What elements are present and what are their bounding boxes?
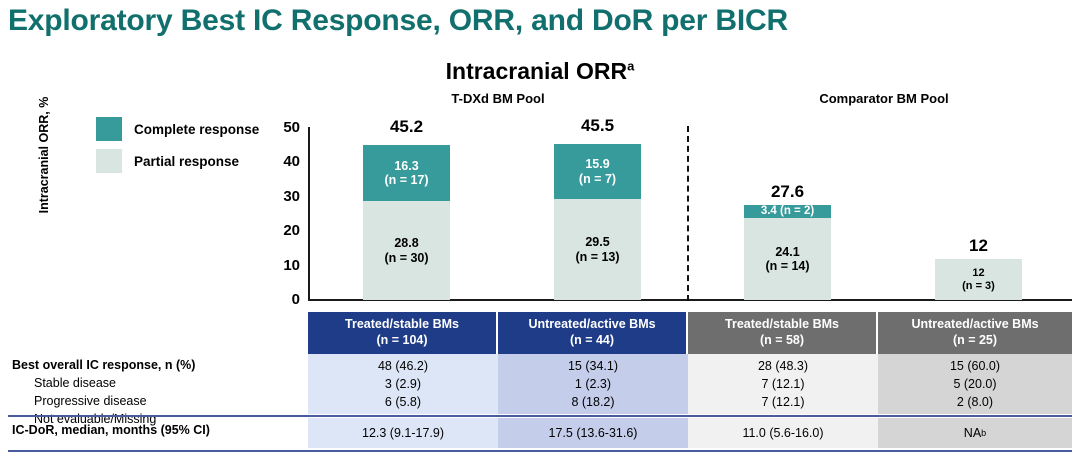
cell-stable-disease: 48 (46.2) bbox=[378, 357, 428, 375]
table-row-label-ic-dor: IC-DoR, median, months (95% CI) bbox=[12, 423, 210, 437]
bar-group-comparator-treated-stable: 27.6 3.4 (n = 2) 24.1 (n = 14) bbox=[744, 0, 831, 310]
bar-segment-partial-response: 24.1 (n = 14) bbox=[744, 218, 831, 300]
table-dor-col-3: 11.0 (5.6-16.0) bbox=[688, 418, 878, 448]
bar-total-label: 12 bbox=[935, 236, 1022, 256]
bar-group-comparator-untreated-active: 12 12 (n = 3) bbox=[935, 0, 1022, 310]
table-body-col-4: 15 (60.0) 5 (20.0) 2 (8.0) bbox=[878, 354, 1072, 414]
table-header-count: (n = 104) bbox=[376, 333, 427, 349]
segment-value-label: 28.8 bbox=[394, 236, 418, 250]
bar-total-label: 45.2 bbox=[363, 117, 450, 137]
table-header-count: (n = 25) bbox=[953, 333, 997, 349]
cell-dor-value: 17.5 (13.6-31.6) bbox=[549, 426, 638, 440]
cell-not-evaluable: 6 (5.8) bbox=[385, 393, 421, 411]
table-header-col-3: Treated/stable BMs (n = 58) bbox=[688, 312, 878, 354]
chart-plot-area: Intracranial ORR, % 50 40 30 20 10 0 45.… bbox=[0, 0, 1080, 310]
data-table: Treated/stable BMs (n = 104) Untreated/a… bbox=[0, 310, 1080, 460]
table-divider-rule-top bbox=[8, 415, 1072, 417]
cell-progressive-disease: 5 (20.0) bbox=[953, 375, 996, 393]
table-row-label-progressive-disease: Progressive disease bbox=[12, 392, 195, 410]
bar-segment-partial-response: 29.5 (n = 13) bbox=[554, 199, 641, 300]
bar-segment-complete-response: 15.9 (n = 7) bbox=[554, 144, 641, 199]
bar-total-label: 45.5 bbox=[554, 116, 641, 136]
y-tick-0: 0 bbox=[266, 291, 300, 308]
cell-dor-value: NA bbox=[964, 426, 981, 440]
table-header-count: (n = 58) bbox=[760, 333, 804, 349]
cell-stable-disease: 15 (60.0) bbox=[950, 357, 1000, 375]
table-header-title: Untreated/active BMs bbox=[911, 317, 1038, 333]
cell-not-evaluable: 8 (18.2) bbox=[571, 393, 614, 411]
segment-value-label: 24.1 bbox=[775, 245, 799, 259]
cell-dor-footnote-marker: b bbox=[981, 428, 986, 438]
table-divider-rule-bottom bbox=[8, 450, 1072, 452]
cell-progressive-disease: 7 (12.1) bbox=[761, 375, 804, 393]
bar-stack: 16.3 (n = 17) 28.8 (n = 30) bbox=[363, 145, 450, 300]
bar-stack: 3.4 (n = 2) 24.1 (n = 14) bbox=[744, 205, 831, 300]
bar-segment-complete-response: 3.4 (n = 2) bbox=[744, 205, 831, 218]
bar-group-tdxd-treated-stable: 45.2 16.3 (n = 17) 28.8 (n = 30) bbox=[363, 0, 450, 310]
table-header-title: Untreated/active BMs bbox=[528, 317, 655, 333]
bar-stack: 12 (n = 3) bbox=[935, 259, 1022, 300]
segment-count-label: (n = 3) bbox=[962, 280, 995, 293]
table-row-group-label: Best overall IC response, n (%) bbox=[12, 356, 195, 374]
panel-divider-dashed-line bbox=[687, 126, 689, 301]
segment-value-label: 12 bbox=[972, 267, 984, 280]
bar-group-tdxd-untreated-active: 45.5 15.9 (n = 7) 29.5 (n = 13) bbox=[554, 0, 641, 310]
cell-stable-disease: 15 (34.1) bbox=[568, 357, 618, 375]
bar-stack: 15.9 (n = 7) 29.5 (n = 13) bbox=[554, 144, 641, 300]
cell-progressive-disease: 3 (2.9) bbox=[385, 375, 421, 393]
y-tick-10: 10 bbox=[266, 257, 300, 274]
y-tick-30: 30 bbox=[266, 188, 300, 205]
table-header-count: (n = 44) bbox=[570, 333, 614, 349]
table-header-col-1: Treated/stable BMs (n = 104) bbox=[308, 312, 498, 354]
cell-dor-value: 12.3 (9.1-17.9) bbox=[362, 426, 444, 440]
segment-count-label: (n = 14) bbox=[765, 259, 809, 273]
cell-progressive-disease: 1 (2.3) bbox=[575, 375, 611, 393]
y-axis-title: Intracranial ORR, % bbox=[37, 75, 51, 235]
cell-not-evaluable: 7 (12.1) bbox=[761, 393, 804, 411]
table-body-col-3: 28 (48.3) 7 (12.1) 7 (12.1) bbox=[688, 354, 878, 414]
segment-value-count-label: 3.4 (n = 2) bbox=[761, 205, 814, 218]
segment-value-label: 16.3 bbox=[394, 159, 418, 173]
cell-not-evaluable: 2 (8.0) bbox=[957, 393, 993, 411]
table-row-label-stable-disease: Stable disease bbox=[12, 374, 195, 392]
table-dor-col-4: NAb bbox=[878, 418, 1072, 448]
table-header-title: Treated/stable BMs bbox=[725, 317, 839, 333]
segment-count-label: (n = 30) bbox=[384, 251, 428, 265]
table-header-title: Treated/stable BMs bbox=[345, 317, 459, 333]
y-tick-40: 40 bbox=[266, 153, 300, 170]
segment-count-label: (n = 13) bbox=[575, 250, 619, 264]
table-body-col-2: 15 (34.1) 1 (2.3) 8 (18.2) bbox=[498, 354, 688, 414]
segment-count-label: (n = 17) bbox=[384, 173, 428, 187]
y-tick-20: 20 bbox=[266, 222, 300, 239]
segment-value-label: 15.9 bbox=[585, 157, 609, 171]
table-dor-col-2: 17.5 (13.6-31.6) bbox=[498, 418, 688, 448]
segment-count-label: (n = 7) bbox=[579, 172, 616, 186]
y-axis-line bbox=[308, 127, 310, 301]
table-body-col-1: 48 (46.2) 3 (2.9) 6 (5.8) bbox=[308, 354, 498, 414]
table-header-col-2: Untreated/active BMs (n = 44) bbox=[498, 312, 688, 354]
segment-value-label: 29.5 bbox=[585, 235, 609, 249]
cell-stable-disease: 28 (48.3) bbox=[758, 357, 808, 375]
table-dor-col-1: 12.3 (9.1-17.9) bbox=[308, 418, 498, 448]
bar-total-label: 27.6 bbox=[744, 182, 831, 202]
table-row-label-group: Best overall IC response, n (%) Stable d… bbox=[12, 356, 195, 429]
bar-segment-partial-response: 12 (n = 3) bbox=[935, 259, 1022, 300]
bar-segment-complete-response: 16.3 (n = 17) bbox=[363, 145, 450, 201]
y-tick-50: 50 bbox=[266, 119, 300, 136]
cell-dor-value: 11.0 (5.6-16.0) bbox=[742, 426, 823, 440]
table-header-col-4: Untreated/active BMs (n = 25) bbox=[878, 312, 1072, 354]
bar-segment-partial-response: 28.8 (n = 30) bbox=[363, 201, 450, 300]
